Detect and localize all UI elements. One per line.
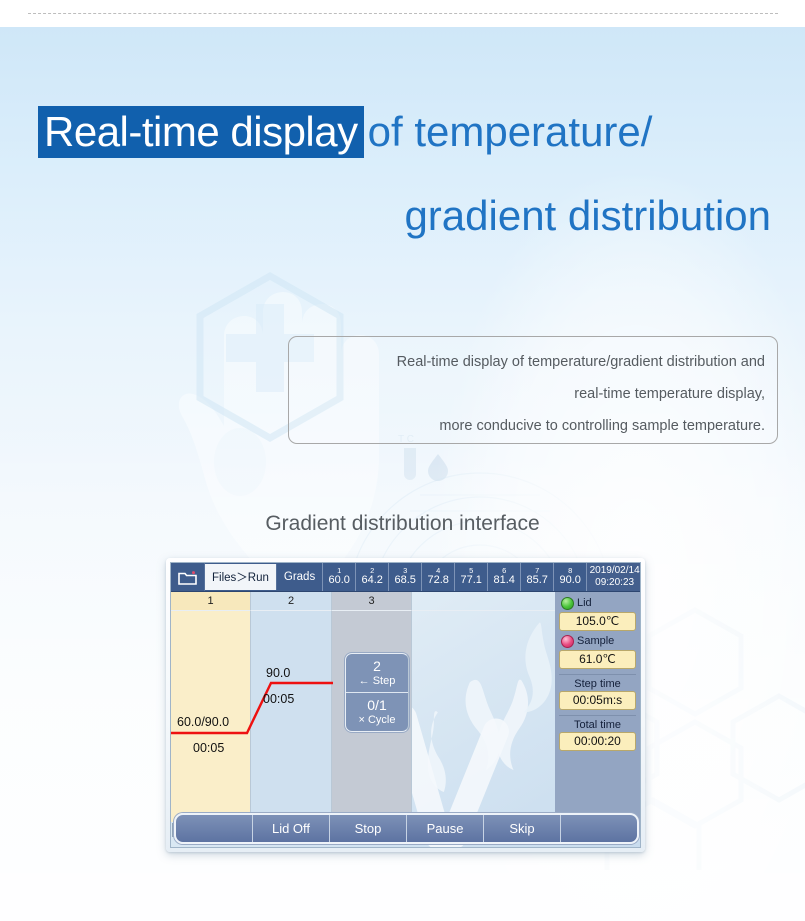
pause-button[interactable]: Pause <box>407 815 484 842</box>
gradient-value: 64.2 <box>362 575 383 587</box>
total-time-value: 00:00:20 <box>559 732 636 751</box>
gradient-value: 72.8 <box>428 575 449 587</box>
cycle-label: × Cycle <box>359 714 396 726</box>
gradient-value: 77.1 <box>461 575 482 587</box>
button-empty-left[interactable] <box>176 815 253 842</box>
top-strip <box>0 0 805 27</box>
status-panel: Lid 105.0℃ Sample 61.0℃ Step time 00:05m… <box>555 592 640 822</box>
cycle-indicator[interactable]: 0/1 × Cycle <box>346 693 408 731</box>
gradient-well-7[interactable]: 7 85.7 <box>521 563 554 591</box>
device-screen: Files＞Run Grads 1 60.0 2 64.2 3 68.5 4 7… <box>170 562 641 848</box>
gradient-well-3[interactable]: 3 68.5 <box>389 563 422 591</box>
step-time-group: Step time 00:05m:s <box>559 678 636 710</box>
sample-temperature-value: 61.0℃ <box>559 650 636 669</box>
protocol-chart: 1 2 3 60.0/90.0 00:05 90.0 00:05 <box>171 592 557 822</box>
gradient-value: 90.0 <box>560 575 581 587</box>
gradient-well-8[interactable]: 8 90.0 <box>554 563 587 591</box>
page-headline: Real-time display of temperature/ gradie… <box>0 106 805 242</box>
callout-line-1: Real-time display of temperature/gradien… <box>303 346 765 378</box>
total-time-group: Total time 00:00:20 <box>559 719 636 751</box>
device-menubar: Files＞Run Grads 1 60.0 2 64.2 3 68.5 4 7… <box>171 563 641 592</box>
lid-label: Lid <box>577 597 592 609</box>
step1-time-label: 00:05 <box>193 741 224 755</box>
gradient-well-6[interactable]: 6 81.4 <box>488 563 521 591</box>
gradient-value: 81.4 <box>494 575 515 587</box>
gradient-well-5[interactable]: 5 77.1 <box>455 563 488 591</box>
lid-temperature-value: 105.0℃ <box>559 612 636 631</box>
step-column-bodies: 60.0/90.0 00:05 90.0 00:05 2 ← Step 0/1 … <box>171 611 556 822</box>
step1-temp-label: 60.0/90.0 <box>177 715 229 729</box>
gradient-well-2[interactable]: 2 64.2 <box>356 563 389 591</box>
clock-date: 2019/02/14 <box>590 565 640 578</box>
step-time-value: 00:05m:s <box>559 691 636 710</box>
total-time-label: Total time <box>559 719 636 731</box>
clock-display: 2019/02/14 09:20:23 <box>587 563 641 591</box>
status-divider-2 <box>559 715 636 716</box>
step-column-header-2[interactable]: 2 <box>251 592 332 611</box>
lid-row: Lid <box>559 595 636 611</box>
step-column-header-empty <box>412 592 556 611</box>
step-column-header-3[interactable]: 3 <box>332 592 412 611</box>
cycle-value: 0/1 <box>367 698 386 713</box>
gradient-value: 85.7 <box>527 575 548 587</box>
gradient-value: 60.0 <box>329 575 350 587</box>
device-caption: Gradient distribution interface <box>0 512 805 536</box>
gradient-well-4[interactable]: 4 72.8 <box>422 563 455 591</box>
stop-button[interactable]: Stop <box>330 815 407 842</box>
dashed-divider <box>28 13 778 14</box>
description-callout: Real-time display of temperature/gradien… <box>288 336 778 444</box>
step-column-2[interactable] <box>251 611 332 822</box>
step-column-empty <box>412 611 556 822</box>
lid-off-button[interactable]: Lid Off <box>253 815 330 842</box>
tab-files-run[interactable]: Files＞Run <box>205 564 277 590</box>
step-indicator[interactable]: 2 ← Step <box>346 654 408 693</box>
folder-icon[interactable] <box>171 563 205 591</box>
tab-grads[interactable]: Grads <box>277 563 323 591</box>
callout-line-2: real-time temperature display, <box>303 378 765 410</box>
step-value: 2 <box>373 659 381 674</box>
step-column-headers: 1 2 3 <box>171 592 556 611</box>
sample-status-group: Sample 61.0℃ <box>559 633 636 669</box>
lid-indicator-icon <box>561 597 574 610</box>
step2-time-label: 00:05 <box>263 692 294 706</box>
gradient-value: 68.5 <box>395 575 416 587</box>
lid-status-group: Lid 105.0℃ <box>559 595 636 631</box>
control-button-bar: Lid Off Stop Pause Skip <box>174 813 639 844</box>
sample-label: Sample <box>577 635 614 647</box>
gradient-well-1[interactable]: 1 60.0 <box>323 563 356 591</box>
device-frame: Files＞Run Grads 1 60.0 2 64.2 3 68.5 4 7… <box>166 558 645 852</box>
skip-button[interactable]: Skip <box>484 815 561 842</box>
step-time-label: Step time <box>559 678 636 690</box>
step2-temp-label: 90.0 <box>266 666 290 680</box>
headline-line-1: Real-time display of temperature/ <box>0 106 805 158</box>
headline-line-2: gradient distribution <box>0 190 805 242</box>
button-empty-right[interactable] <box>561 815 637 842</box>
headline-rest: of temperature/ <box>364 106 653 158</box>
sample-indicator-icon <box>561 635 574 648</box>
headline-highlight: Real-time display <box>38 106 364 158</box>
clock-time: 09:20:23 <box>595 577 634 590</box>
callout-line-3: more conducive to controlling sample tem… <box>303 410 765 442</box>
sample-row: Sample <box>559 633 636 649</box>
step-column-header-1[interactable]: 1 <box>171 592 251 611</box>
status-divider-1 <box>559 674 636 675</box>
step-cycle-box[interactable]: 2 ← Step 0/1 × Cycle <box>345 653 409 732</box>
step-label: ← Step <box>359 675 396 687</box>
